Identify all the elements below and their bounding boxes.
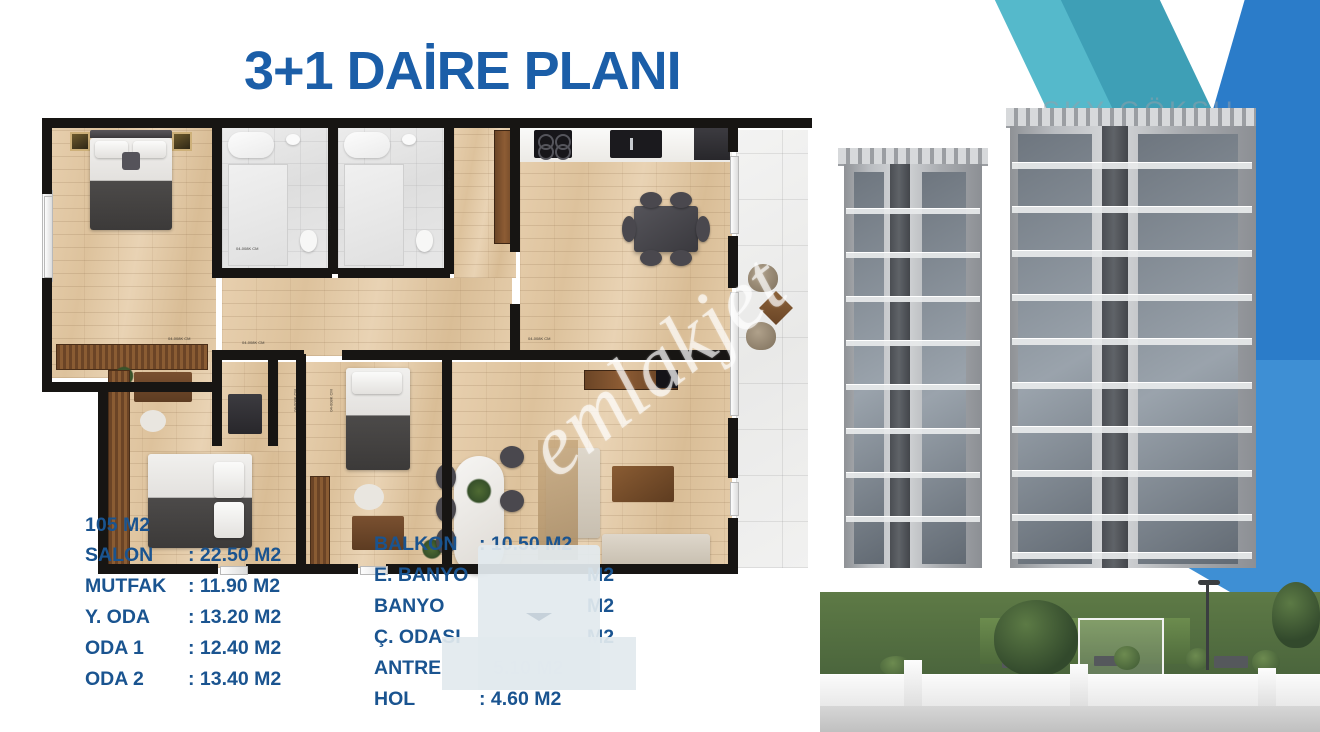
kitchen-sink bbox=[610, 130, 662, 158]
basin-bathroom bbox=[402, 134, 416, 145]
legend-row: BALKON : 10.50 M2 bbox=[374, 529, 614, 560]
ground-level bbox=[820, 556, 1320, 732]
shower-bathroom bbox=[344, 164, 404, 266]
tree bbox=[994, 600, 1078, 676]
balcony-chair bbox=[748, 264, 778, 292]
wall-bath-bottom-2 bbox=[338, 268, 450, 278]
road bbox=[820, 706, 1320, 732]
wall-bath-partition-1 bbox=[328, 124, 338, 274]
legend-label-hol: HOL bbox=[374, 688, 479, 711]
legend-value-salon: : 22.50 M2 bbox=[188, 544, 281, 567]
tower-right-balcony bbox=[1012, 514, 1252, 521]
legend-row: Y. ODA : 13.20 M2 bbox=[85, 602, 281, 633]
legend-label-oda2: ODA 2 bbox=[85, 668, 188, 691]
basin-ensuite bbox=[286, 134, 300, 145]
wall-bath-bottom-1 bbox=[222, 268, 332, 278]
tower-left-balcony bbox=[846, 472, 980, 478]
legend-label-oda1: ODA 1 bbox=[85, 637, 188, 660]
legend-value-antre: 5.10 M2 bbox=[493, 657, 563, 680]
door-label: 04-008K CM bbox=[242, 340, 264, 345]
sofa-salon-lower bbox=[602, 534, 710, 566]
bush bbox=[1114, 646, 1140, 670]
legend-value-balkon: : 10.50 M2 bbox=[479, 533, 572, 556]
window-balcony-rail bbox=[730, 482, 739, 516]
wall-kitchen-left bbox=[510, 118, 520, 252]
legend-label-codasi: Ç. ODASI bbox=[374, 626, 479, 649]
tower-right-balcony bbox=[1012, 250, 1252, 257]
legend-row: HOL : 4.60 M2 bbox=[374, 684, 614, 715]
wall-oda1-oda2 bbox=[296, 354, 306, 570]
rug-master-bedroom bbox=[56, 344, 208, 370]
dining-chair bbox=[640, 250, 662, 266]
wall-bedroom-bottom bbox=[42, 382, 218, 392]
fence-post bbox=[904, 660, 922, 710]
wall-corridor-bottom-left bbox=[212, 350, 304, 360]
tower-right-balcony bbox=[1012, 426, 1252, 433]
legend-value-oda2: : 13.40 M2 bbox=[188, 668, 281, 691]
tower-left-glass-a bbox=[854, 172, 884, 564]
bed-master bbox=[90, 138, 172, 230]
tower-right-balcony bbox=[1012, 338, 1252, 345]
legend-label-mutfak: MUTFAK bbox=[85, 575, 188, 598]
dining-chair bbox=[640, 192, 662, 208]
fence-post bbox=[1070, 664, 1088, 710]
door-label: 04-008K CM bbox=[447, 171, 452, 193]
tower-right-balcony bbox=[1012, 382, 1252, 389]
floor-plan-drawing: 04-008K CM 04-008K CM 04-008K CM 04-008K… bbox=[42, 118, 817, 476]
legend-label-ebanyo: E. BANYO bbox=[374, 564, 479, 587]
salon-dining-chair bbox=[500, 490, 524, 512]
wall-balcony-left-bottom bbox=[728, 518, 738, 574]
tower-left-glass-b bbox=[922, 172, 966, 564]
wall-corridor-bottom-seg bbox=[454, 350, 512, 360]
cooktop bbox=[534, 130, 572, 158]
wall-master-bedroom-right bbox=[212, 118, 222, 278]
bathtub-bathroom bbox=[344, 132, 390, 158]
legend-row: MUTFAK : 11.90 M2 bbox=[85, 571, 281, 602]
wall-balcony-left-mid bbox=[728, 236, 738, 288]
bench bbox=[1214, 656, 1248, 668]
bed-headboard bbox=[90, 130, 172, 138]
wall-exterior-top-left bbox=[48, 118, 288, 128]
legend-label-yoda: Y. ODA bbox=[85, 606, 188, 629]
door-label: 04-008K CM bbox=[327, 213, 332, 235]
wall-oda1-laundry bbox=[212, 354, 222, 446]
wall-laundry-right bbox=[268, 360, 278, 446]
desk-chair-oda-1 bbox=[140, 410, 166, 432]
salon-dining-chair bbox=[500, 446, 524, 468]
legend-value-yoda: : 13.20 M2 bbox=[188, 606, 281, 629]
legend-label-salon: SALON bbox=[85, 544, 188, 567]
wall-balcony-top bbox=[734, 118, 812, 128]
dining-chair bbox=[696, 216, 710, 242]
legend-value-mutfak: : 11.90 M2 bbox=[188, 575, 280, 598]
rug-oda-2 bbox=[310, 476, 330, 570]
dining-chair bbox=[670, 250, 692, 266]
legend-row: SALON : 22.50 M2 bbox=[85, 540, 281, 571]
window-kitchen bbox=[730, 156, 739, 234]
wall-bath-partition-2 bbox=[444, 124, 454, 274]
door-label: 04-008K CM bbox=[236, 246, 258, 251]
tower-left-balcony bbox=[846, 384, 980, 390]
toilet-bathroom bbox=[416, 230, 433, 252]
refrigerator bbox=[694, 128, 730, 160]
wall-exterior-left-upper bbox=[42, 118, 52, 194]
tower-right-balcony bbox=[1012, 294, 1252, 301]
window-bedroom-left bbox=[44, 196, 53, 278]
tower-left-balcony bbox=[846, 428, 980, 434]
tree bbox=[1272, 582, 1320, 648]
legend-row: ANTRE 5.10 M2 bbox=[374, 653, 614, 684]
tower-right-balcony bbox=[1012, 206, 1252, 213]
street-lamp-post bbox=[1206, 582, 1209, 670]
legend-label-banyo: BANYO bbox=[374, 595, 479, 618]
wall-art-left bbox=[70, 132, 90, 151]
door-label: 04-008K CM bbox=[329, 389, 334, 411]
dining-table-kitchen bbox=[634, 206, 698, 252]
tower-right-balcony bbox=[1012, 470, 1252, 477]
floor-plan-poster: 3+1 DAİRE PLANI bbox=[0, 0, 1320, 732]
door-label: 04-008K CM bbox=[528, 336, 550, 341]
door-label: 04-008K CM bbox=[293, 389, 298, 411]
wall-art-right bbox=[172, 132, 192, 151]
legend-left-column: 105 M2 SALON : 22.50 M2 MUTFAK : 11.90 M… bbox=[85, 510, 281, 695]
tower-left bbox=[838, 148, 988, 568]
legend-row: Ç. ODASI M2 bbox=[374, 622, 614, 653]
toilet-ensuite bbox=[300, 230, 317, 252]
legend-label-antre: ANTRE bbox=[374, 657, 479, 680]
legend-value-codasi: M2 bbox=[587, 626, 614, 649]
tower-right-core bbox=[1102, 126, 1128, 568]
legend-label-balkon: BALKON bbox=[374, 533, 479, 556]
wall-corridor-bottom-right bbox=[342, 350, 454, 360]
tower-left-balcony bbox=[846, 340, 980, 346]
legend-row: ODA 1 : 12.40 M2 bbox=[85, 633, 281, 664]
tower-right-crown bbox=[1006, 108, 1256, 128]
washing-machine bbox=[228, 394, 262, 434]
wall-exterior-left-lower bbox=[42, 278, 52, 390]
wall-exterior-top-mid bbox=[288, 118, 516, 128]
wall-kitchen-salon-divider bbox=[510, 350, 734, 360]
dining-chair bbox=[670, 192, 692, 208]
tower-left-balcony bbox=[846, 208, 980, 214]
bathtub-ensuite bbox=[228, 132, 274, 158]
legend-value-ebanyo: M2 bbox=[587, 564, 614, 587]
dining-chair bbox=[622, 216, 636, 242]
page-title: 3+1 DAİRE PLANI bbox=[244, 40, 681, 102]
legend-row: E. BANYO M2 bbox=[374, 560, 614, 591]
tower-right-glass-a bbox=[1018, 134, 1092, 564]
legend-row: ODA 2 : 13.40 M2 bbox=[85, 664, 281, 695]
legend-right-column: BALKON : 10.50 M2 E. BANYO M2 BANYO M2 Ç… bbox=[374, 529, 614, 715]
coffee-table-salon bbox=[612, 466, 674, 502]
tower-right-balcony bbox=[1012, 162, 1252, 169]
legend-value-banyo: M2 bbox=[587, 595, 614, 618]
wall-kitchen-left-lower bbox=[510, 304, 520, 356]
window-salon bbox=[730, 292, 739, 416]
wall-exterior-top-right bbox=[516, 118, 744, 128]
chair-oda-2 bbox=[354, 484, 384, 510]
street-lamp-head bbox=[1198, 580, 1220, 585]
balcony-chair bbox=[746, 322, 776, 350]
room-balcony bbox=[736, 130, 808, 568]
tower-left-core bbox=[890, 164, 910, 568]
centerpiece-plant bbox=[466, 478, 492, 504]
wall-balcony-left-lower bbox=[728, 418, 738, 478]
tower-left-balcony bbox=[846, 516, 980, 522]
tower-left-balcony bbox=[846, 252, 980, 258]
legend-value-hol: : 4.60 M2 bbox=[479, 688, 561, 711]
legend-row: BANYO M2 bbox=[374, 591, 614, 622]
tower-right-glass-b bbox=[1138, 134, 1238, 564]
tower-left-balcony bbox=[846, 296, 980, 302]
legend-value-oda1: : 12.40 M2 bbox=[188, 637, 281, 660]
door-label: 04-008K CM bbox=[168, 336, 190, 341]
tv-screen bbox=[656, 370, 678, 388]
fence-post bbox=[1258, 668, 1276, 710]
tower-right bbox=[1006, 108, 1256, 568]
building-render-panel: SKY GÖKSU bbox=[820, 0, 1320, 732]
room-antre bbox=[222, 278, 512, 356]
bed-oda-2 bbox=[346, 368, 410, 470]
legend-total-area: 105 M2 bbox=[85, 510, 281, 540]
